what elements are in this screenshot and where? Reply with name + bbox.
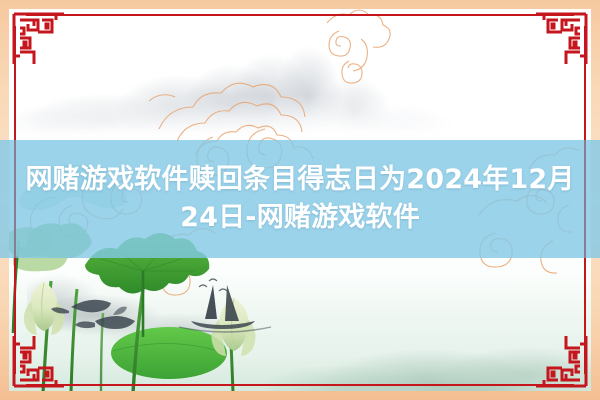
frame-line-bottom (26, 384, 574, 386)
fret-corner-top-left-icon (8, 8, 70, 70)
frame-line-top (26, 14, 574, 16)
poster-canvas: 网赌游戏软件赎回条目得志日为2024年12月24日-网赌游戏软件 (0, 0, 600, 400)
mountain-range-top-icon (9, 27, 591, 137)
fret-corner-bottom-left-icon (8, 330, 70, 392)
page-title: 网赌游戏软件赎回条目得志日为2024年12月24日-网赌游戏软件 (20, 161, 580, 237)
title-banner: 网赌游戏软件赎回条目得志日为2024年12月24日-网赌游戏软件 (0, 140, 600, 258)
fret-corner-top-right-icon (530, 8, 592, 70)
banner-edge-left (14, 140, 16, 258)
banner-edge-right (584, 140, 586, 258)
fret-corner-bottom-right-icon (530, 330, 592, 392)
